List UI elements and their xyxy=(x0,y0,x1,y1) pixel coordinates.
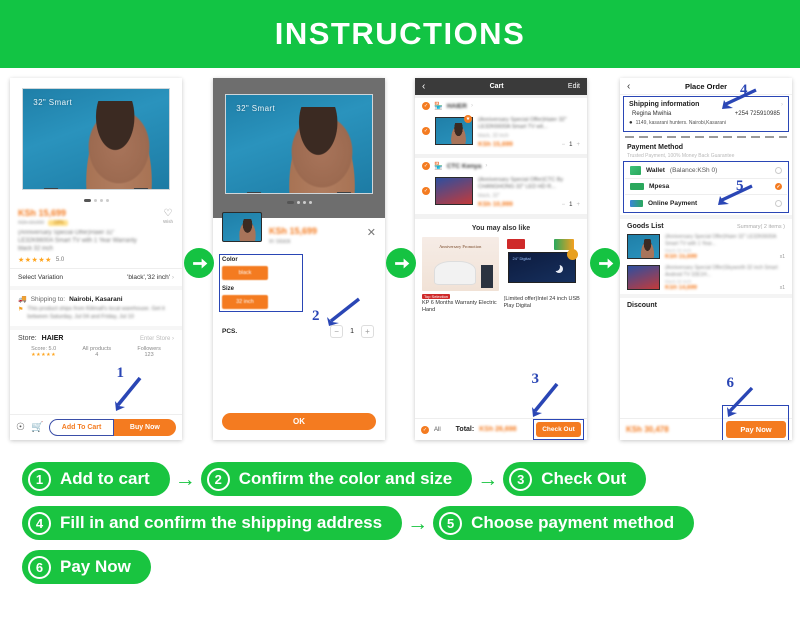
increment-button[interactable]: + xyxy=(576,142,580,148)
increment-button[interactable]: + xyxy=(361,325,374,338)
select-all-label: All xyxy=(434,427,441,433)
legend-step-label: Pay Now xyxy=(60,557,131,577)
truck-icon: 🚚 xyxy=(18,295,27,303)
legend-row-2: 4Fill in and confirm the shipping addres… xyxy=(22,506,778,540)
image-carousel-dots[interactable] xyxy=(225,198,373,206)
store-checkbox-checked[interactable]: ✓ xyxy=(422,162,430,170)
all-products-value: 4 xyxy=(82,352,111,358)
grand-total: KSh 30,478 xyxy=(626,425,669,434)
variation-highlight-box xyxy=(219,254,303,312)
product-photo-subject xyxy=(284,107,360,193)
back-icon[interactable]: ‹ xyxy=(627,81,630,92)
select-all-checkbox[interactable]: ✓ xyxy=(421,426,429,434)
store-icon: 🏪 xyxy=(434,102,443,110)
store-stats: Score: 5.0 ★★★★★ All products 4 Follower… xyxy=(10,344,182,361)
recommendation-card-1[interactable]: Anniversary Promotion Top Selection KP 6… xyxy=(422,237,499,314)
cart-item-title-2: (Anniversary Special Offer)CTC By CHANGH… xyxy=(478,177,580,191)
rating-value: 5.0 xyxy=(56,257,64,263)
product-image[interactable]: 32" Smart xyxy=(10,78,182,196)
ok-button[interactable]: OK xyxy=(222,413,376,430)
recommendations-section: You may also like Anniversary Promotion … xyxy=(415,219,587,318)
legend-step-number: 3 xyxy=(509,468,532,491)
legend-step-3: 3Check Out xyxy=(503,462,646,496)
cart-item-variant-1: black, 32 inch xyxy=(478,133,580,139)
item-checkbox-checked[interactable]: ✓ xyxy=(422,187,430,195)
store-name-2: CTC Kenya xyxy=(447,163,482,170)
cart-store-header-1[interactable]: ✓ 🏪 HAIER › xyxy=(415,98,587,114)
checkout-highlight-box xyxy=(533,419,584,440)
payment-method-title: Payment Method xyxy=(627,144,785,151)
promo-banner-text: Anniversary Promotion xyxy=(422,244,499,249)
add-to-cart-button[interactable]: Add To Cart xyxy=(49,419,113,436)
cart-bottom-bar: ✓ All Total: KSh 26,698 Check Out xyxy=(415,418,587,440)
arrow-right-icon xyxy=(191,255,208,272)
callout-number-2: 2 xyxy=(312,308,320,325)
legend-step-label: Fill in and confirm the shipping address xyxy=(60,513,382,533)
legend-step-1: 1Add to cart xyxy=(22,462,170,496)
payment-method-header: Payment Method Trusted Payment, 100% Mon… xyxy=(620,142,792,159)
product-rating: ★★★★★ 5.0 xyxy=(10,255,182,268)
increment-button[interactable]: + xyxy=(576,202,580,208)
phone-screen-cart: ‹ Cart Edit ✓ 🏪 HAIER › ✓ (Anniversary S… xyxy=(415,78,587,440)
callout-arrow-1 xyxy=(110,376,144,412)
star-icon: ★★★★★ xyxy=(18,256,52,264)
dimmed-backdrop[interactable]: 32" Smart xyxy=(213,78,385,226)
recommendation-title-2: (Limited offer)Intel 24 inch USB Play Di… xyxy=(504,296,581,310)
goods-title-1: (Anniversary Special Offer)Haier 32" LE3… xyxy=(665,234,785,247)
variation-price: KSh 15,699 xyxy=(269,226,376,236)
quantity-value: 1 xyxy=(350,328,354,335)
product-photo-subject xyxy=(81,101,157,189)
flow-arrow-1-to-2 xyxy=(184,248,214,278)
place-order-navbar: ‹ Place Order xyxy=(620,78,792,95)
screenshot-strip: 32" Smart KSh 15,699 KSh 19,000 -18% (An… xyxy=(0,68,800,450)
decrement-button[interactable]: − xyxy=(562,142,566,148)
callout-arrow-4 xyxy=(716,88,758,112)
goods-title-2: (Anniversary Special Offer)Skyworth 32 i… xyxy=(665,265,785,278)
cart-store-header-2[interactable]: ✓ 🏪 CTC Kenya › xyxy=(415,158,587,174)
goods-list-header: Goods List Summary( 2 items ) xyxy=(620,219,792,232)
close-icon[interactable]: ✕ xyxy=(367,226,376,239)
quantity-value: 1 xyxy=(569,142,572,148)
legend-step-2: 2Confirm the color and size xyxy=(201,462,472,496)
goods-qty-2: x1 xyxy=(780,285,785,291)
top-selection-tag: Top Selection xyxy=(422,294,450,299)
recommendations-title: You may also like xyxy=(415,225,587,232)
legend-step-number: 2 xyxy=(207,468,230,491)
phone-screen-place-order: ‹ Place Order Shipping information › Reg… xyxy=(620,78,792,440)
legend-step-number: 6 xyxy=(28,556,51,579)
goods-thumb-1 xyxy=(627,234,660,259)
shipping-to-row: 🚚 Shipping to: Nairobi, Kasarani xyxy=(18,295,174,303)
callout-arrow-5 xyxy=(712,184,754,208)
variation-thumbnail[interactable] xyxy=(222,212,262,242)
decrement-button[interactable]: − xyxy=(562,202,566,208)
total-label: Total: xyxy=(456,426,475,433)
cart-item-stepper-2[interactable]: − 1 + xyxy=(562,202,580,208)
arrow-right-icon xyxy=(393,255,410,272)
callout-arrow-6 xyxy=(722,386,756,418)
goods-item-2[interactable]: (Anniversary Special Offer)Skyworth 32 i… xyxy=(620,263,792,294)
goods-qty-1: x1 xyxy=(780,254,785,260)
flow-arrow-3-to-4 xyxy=(590,248,620,278)
goods-price-1: KSh 15,699 xyxy=(665,254,697,260)
tv-banner-text: 24" Digital xyxy=(513,256,531,261)
legend-row-1: 1Add to cart→2Confirm the color and size… xyxy=(22,462,778,496)
chevron-right-icon: › xyxy=(485,163,487,169)
legend-step-5: 5Choose payment method xyxy=(433,506,694,540)
chevron-right-icon: › xyxy=(471,103,473,109)
chevron-right-icon: › xyxy=(172,336,174,342)
legend-step-6: 6Pay Now xyxy=(22,550,151,584)
legend-step-number: 1 xyxy=(28,468,51,491)
discount-title: Discount xyxy=(627,302,785,309)
payment-highlight-box xyxy=(623,161,789,213)
enter-store-link[interactable]: Enter Store › xyxy=(140,336,174,342)
callout-arrow-2 xyxy=(321,296,361,328)
product-old-price: KSh 19,000 xyxy=(18,220,44,226)
payment-method-subtitle: Trusted Payment, 100% Money Back Guarant… xyxy=(627,153,785,159)
page-title: INSTRUCTIONS xyxy=(275,16,526,52)
chevron-right-icon: › xyxy=(172,274,174,281)
select-variation-row[interactable]: Select Variation 'black','32 inch' › xyxy=(10,268,182,286)
cart-item-price-2: KSh 10,999 xyxy=(478,201,513,208)
phone-screen-variation-sheet: 32" Smart KSh 15,699 In Stock ✕ xyxy=(213,78,385,440)
store-checkbox-checked[interactable]: ✓ xyxy=(422,102,430,110)
page-header: INSTRUCTIONS xyxy=(0,0,800,68)
select-variation-value: 'black','32 inch' › xyxy=(127,274,174,281)
item-checkbox-checked[interactable]: ✓ xyxy=(422,127,430,135)
recommendation-title-1: KP 6 Months Warranty Electric Hand xyxy=(422,300,499,314)
warehouse-icon: ⚑ xyxy=(18,306,23,321)
goods-thumb-2 xyxy=(627,265,660,290)
place-order-bottom-bar: KSh 30,478 Pay Now xyxy=(620,418,792,440)
cart-item-stepper-1[interactable]: − 1 + xyxy=(562,142,580,148)
cart-item-price-1: KSh 15,699 xyxy=(478,141,513,148)
variation-bottom-sheet: KSh 15,699 In Stock ✕ Color black Size 3… xyxy=(213,218,385,440)
tv-screen-label: 32" Smart xyxy=(236,104,275,113)
legend-step-label: Add to cart xyxy=(60,469,150,489)
goods-summary: Summary( 2 items ) xyxy=(737,224,785,230)
item-badge-icon: ★ xyxy=(464,115,472,123)
cart-item-2[interactable]: ✓ (Anniversary Special Offer)CTC By CHAN… xyxy=(415,174,587,214)
chat-icon[interactable]: ☉ xyxy=(16,422,25,433)
buy-now-button[interactable]: Buy Now xyxy=(114,419,176,436)
select-variation-label: Select Variation xyxy=(18,274,63,281)
product-price: KSh 15,699 xyxy=(18,208,174,218)
goods-variant-2: black,32 inch xyxy=(665,279,785,284)
wish-label: Wish xyxy=(163,219,173,224)
legend-step-number: 4 xyxy=(28,512,51,535)
shipping-note: This product ships from Kilimall's local… xyxy=(27,306,174,321)
discount-badge: -18% xyxy=(48,220,68,226)
image-carousel-dots[interactable] xyxy=(10,196,182,204)
callout-arrow-3 xyxy=(527,382,561,418)
legend-step-number: 5 xyxy=(439,512,462,535)
tv-stand xyxy=(226,191,372,194)
cart-item-1[interactable]: ✓ (Anniversary Special Offer)Haier 32" L… xyxy=(415,114,587,154)
product-action-bar: ☉ 🛒 Add To Cart Buy Now xyxy=(10,414,182,440)
quantity-value: 1 xyxy=(569,202,572,208)
shipping-label: Shipping to: xyxy=(31,296,65,303)
cart-icon[interactable]: 🛒 xyxy=(31,422,43,433)
goods-list-title: Goods List xyxy=(627,223,664,230)
legend-step-label: Choose payment method xyxy=(471,513,674,533)
tv-screen-label: 32" Smart xyxy=(33,98,72,107)
legend-step-label: Check Out xyxy=(541,469,626,489)
wish-button[interactable]: ♡ Wish xyxy=(163,209,173,224)
store-row[interactable]: Store: HAIER Enter Store › xyxy=(10,330,182,344)
phone-screen-product-detail: 32" Smart KSh 15,699 KSh 19,000 -18% (An… xyxy=(10,78,182,440)
edit-button[interactable]: Edit xyxy=(568,83,580,90)
arrow-right-icon xyxy=(597,255,614,272)
goods-item-1[interactable]: (Anniversary Special Offer)Haier 32" LE3… xyxy=(620,232,792,263)
navbar-title: Cart xyxy=(490,83,504,90)
discount-section[interactable]: Discount xyxy=(620,298,792,309)
back-icon[interactable]: ‹ xyxy=(422,81,425,92)
followers-value: 123 xyxy=(137,352,161,358)
pcs-label: PCS. xyxy=(222,328,237,335)
store-icon: 🏪 xyxy=(434,162,443,170)
recommendation-card-2[interactable]: 24" Digital (Limited offer)Intel 24 inch… xyxy=(504,237,581,314)
store-score-stars: ★★★★★ xyxy=(31,352,56,358)
legend-arrow: → xyxy=(175,469,196,490)
store-name: HAIER xyxy=(42,335,64,342)
legend-arrow: → xyxy=(477,469,498,490)
legend-step-4: 4Fill in and confirm the shipping addres… xyxy=(22,506,402,540)
flow-arrow-2-to-3 xyxy=(386,248,416,278)
goods-variant-1: black,32 inch xyxy=(665,248,785,253)
cart-navbar: ‹ Cart Edit xyxy=(415,78,587,95)
shipping-highlight-box xyxy=(623,96,789,132)
store-label: Store: xyxy=(18,335,37,342)
goods-price-2: KSh 14,699 xyxy=(665,285,697,291)
tv-stand xyxy=(23,187,169,190)
legend-arrow: → xyxy=(407,513,428,534)
cart-item-title-1: (Anniversary Special Offer)Haier 32" LE3… xyxy=(478,117,580,131)
dashed-divider xyxy=(625,135,787,139)
steps-legend: 1Add to cart→2Confirm the color and size… xyxy=(0,450,800,584)
cart-item-thumb-2[interactable] xyxy=(435,177,473,205)
legend-row-3: 6Pay Now xyxy=(22,550,778,584)
cart-item-variant-2: black, 32" xyxy=(478,193,580,199)
heart-icon: ♡ xyxy=(163,209,173,219)
total-value: KSh 26,698 xyxy=(479,426,516,433)
shipping-value: Nairobi, Kasarani xyxy=(69,296,122,303)
product-description: (Anniversary Special Offer)Haier 32" LE3… xyxy=(18,229,151,253)
stock-status: In Stock xyxy=(269,239,376,245)
legend-step-label: Confirm the color and size xyxy=(239,469,452,489)
store-name-1: HAIER xyxy=(447,103,467,110)
